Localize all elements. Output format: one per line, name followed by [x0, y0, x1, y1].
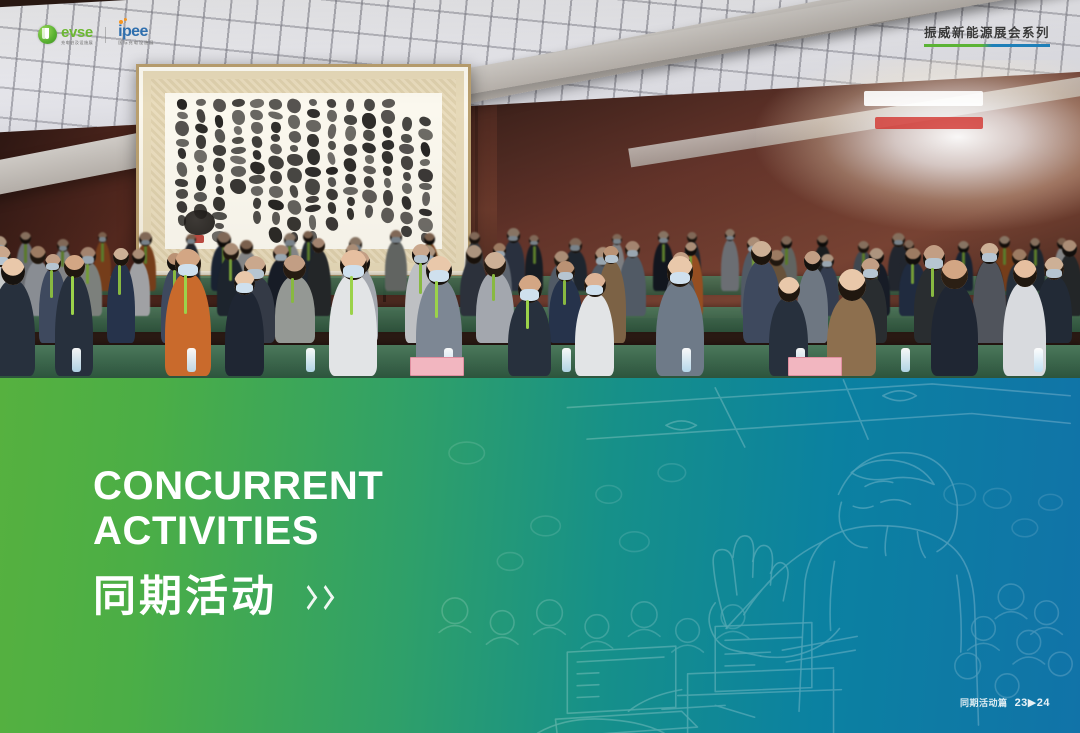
ipee-logo-label: ipee [118, 23, 148, 40]
lanyard [118, 265, 121, 295]
face-mask [187, 239, 195, 244]
face-mask [141, 240, 151, 246]
lanyard [1003, 248, 1006, 265]
audience-member [385, 241, 406, 291]
audience-head [858, 241, 869, 253]
evse-logo: evse 充电桩及设施展 [38, 25, 93, 45]
water-bottle [562, 348, 571, 372]
lanyard [662, 244, 665, 263]
face-mask [558, 272, 573, 281]
lanyard [1034, 249, 1037, 265]
audience-head [64, 255, 85, 279]
name-card [410, 357, 464, 376]
audience-head [941, 260, 967, 290]
audience-head [838, 269, 866, 300]
lanyard [291, 278, 294, 304]
logo-divider [105, 27, 106, 43]
audience-head [424, 233, 435, 245]
face-mask [586, 285, 603, 295]
audience-member [931, 284, 978, 376]
audience-member [107, 263, 135, 343]
ipee-logo: ipee 国际充电设施展 [118, 24, 154, 45]
audience-head [817, 235, 828, 247]
audience-head [283, 255, 305, 281]
hero-photo: evse 充电桩及设施展 ipee 国际充电设施展 振威新能源展会系列 [0, 0, 1080, 378]
audience-head [958, 241, 969, 253]
title-panel: CONCURRENT ACTIVITIES 同期活动 同期活动篇 23▶24 [0, 378, 1080, 733]
face-mask [236, 283, 253, 293]
audience-head [223, 243, 239, 261]
audience-head [113, 248, 129, 266]
lanyard [563, 280, 566, 305]
water-bottle [1034, 348, 1043, 372]
audience-head [781, 236, 792, 249]
evse-logo-text: evse [61, 25, 93, 40]
lanyard [785, 248, 788, 265]
face-mask [520, 289, 539, 300]
face-mask [285, 240, 294, 246]
audience-head [240, 240, 252, 254]
panel-heading-block: CONCURRENT ACTIVITIES 同期活动 [93, 464, 383, 619]
evse-mark-icon [38, 25, 57, 44]
face-mask [59, 246, 68, 251]
series-badge-label: 振威新能源展会系列 [924, 22, 1050, 41]
face-mask [178, 264, 198, 276]
slide-root: evse 充电桩及设施展 ipee 国际充电设施展 振威新能源展会系列 [0, 0, 1080, 733]
face-mask [982, 253, 996, 261]
double-chevron-right-icon [301, 590, 333, 605]
audience-head [469, 232, 479, 244]
chevron-1 [300, 585, 317, 610]
face-mask [343, 265, 364, 277]
face-mask [670, 272, 691, 284]
lanyard [911, 264, 914, 284]
speaker-at-podium-line-art-icon [410, 378, 1080, 733]
face-mask [570, 245, 580, 251]
chevron-2 [317, 585, 334, 610]
lanyard [435, 281, 438, 318]
name-card [788, 357, 842, 376]
brand-logos: evse 充电桩及设施展 ipee 国际充电设施展 [38, 24, 154, 45]
face-mask [429, 270, 449, 282]
series-badge: 振威新能源展会系列 [924, 22, 1050, 47]
face-mask [863, 269, 878, 278]
audience-head [778, 277, 800, 302]
lanyard [184, 275, 187, 314]
ipee-logo-text: ipee [118, 24, 154, 40]
face-mask [822, 261, 832, 267]
lanyard [229, 259, 232, 281]
lanyard [350, 276, 353, 315]
face-mask [391, 237, 400, 242]
face-mask [627, 250, 639, 257]
audience-head [466, 245, 482, 263]
evse-wordmark: evse 充电桩及设施展 [61, 25, 93, 45]
series-badge-rule [924, 44, 1050, 47]
title-cn-row: 同期活动 [93, 576, 383, 619]
lanyard [492, 274, 495, 301]
lanyard [71, 276, 74, 315]
evse-logo-subtitle: 充电桩及设施展 [61, 41, 93, 45]
face-mask [659, 238, 668, 243]
face-mask [605, 255, 618, 262]
audience-member [275, 276, 315, 343]
audience-head [312, 238, 325, 253]
lanyard [101, 243, 104, 262]
ipee-logo-subtitle: 国际充电设施展 [118, 41, 154, 45]
audience-head [905, 248, 921, 266]
audience-head [1013, 260, 1037, 287]
audience-member [656, 281, 703, 376]
title-cn: 同期活动 [93, 576, 277, 619]
footer-page-range: 23▶24 [1015, 696, 1050, 709]
face-mask [925, 258, 942, 268]
lanyard [50, 270, 53, 298]
audience-member [225, 290, 263, 376]
water-bottle [682, 348, 691, 372]
water-bottle [306, 348, 315, 372]
lanyard [24, 244, 27, 263]
lanyard [86, 264, 89, 285]
audience-member [973, 260, 1006, 343]
water-bottle [187, 348, 196, 372]
audience-head [1, 258, 25, 286]
audience-head [1030, 238, 1040, 250]
title-en-line2: ACTIVITIES [93, 509, 383, 554]
audience-head [999, 236, 1010, 248]
audience-head [303, 231, 313, 242]
audience-head [1062, 240, 1077, 257]
water-bottle [901, 348, 910, 372]
lanyard [526, 300, 529, 330]
face-mask [99, 237, 107, 242]
water-bottle [72, 348, 81, 372]
face-mask [46, 263, 58, 270]
slide-footer: 同期活动篇 23▶24 [960, 696, 1050, 709]
face-mask [414, 255, 428, 263]
footer-section-label: 同期活动篇 [960, 696, 1008, 709]
lanyard [533, 246, 536, 264]
lanyard [931, 268, 934, 297]
face-mask [1046, 269, 1062, 278]
audience-head [484, 252, 505, 276]
audience-head [20, 232, 31, 244]
lanyard [307, 242, 310, 261]
title-en-line1: CONCURRENT [93, 464, 383, 509]
lanyard [419, 263, 422, 294]
face-mask [613, 239, 620, 243]
